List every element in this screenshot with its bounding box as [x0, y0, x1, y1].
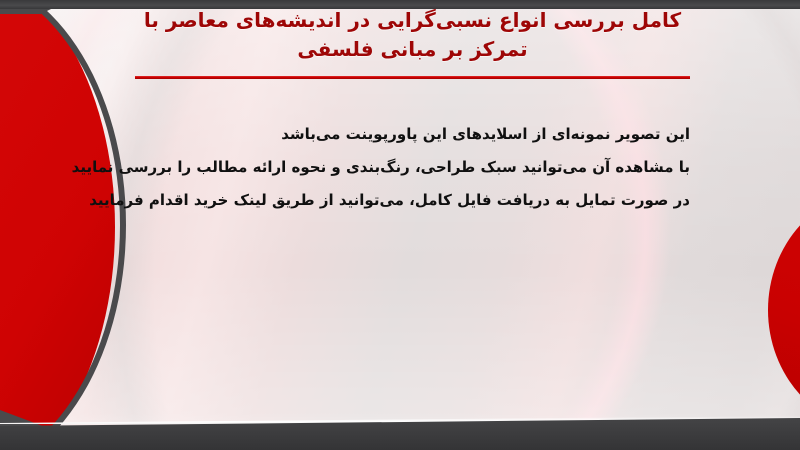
body-line-3: در صورت تمایل به دریافت فایل کامل، می‌تو…	[120, 184, 690, 217]
body-line-2: با مشاهده آن می‌توانید سبک طراحی، رنگ‌بن…	[120, 151, 690, 184]
title-underline-rule	[135, 76, 690, 79]
body-line-1: این تصویر نمونه‌ای از اسلایدهای این پاور…	[120, 118, 690, 151]
slide-body-block: این تصویر نمونه‌ای از اسلایدهای این پاور…	[120, 118, 690, 217]
slide-title-block: کامل بررسی انواع نسبی‌گرایی در اندیشه‌ها…	[130, 6, 695, 64]
presentation-slide: کامل بررسی انواع نسبی‌گرایی در اندیشه‌ها…	[0, 0, 800, 450]
slide-title: کامل بررسی انواع نسبی‌گرایی در اندیشه‌ها…	[130, 6, 695, 64]
